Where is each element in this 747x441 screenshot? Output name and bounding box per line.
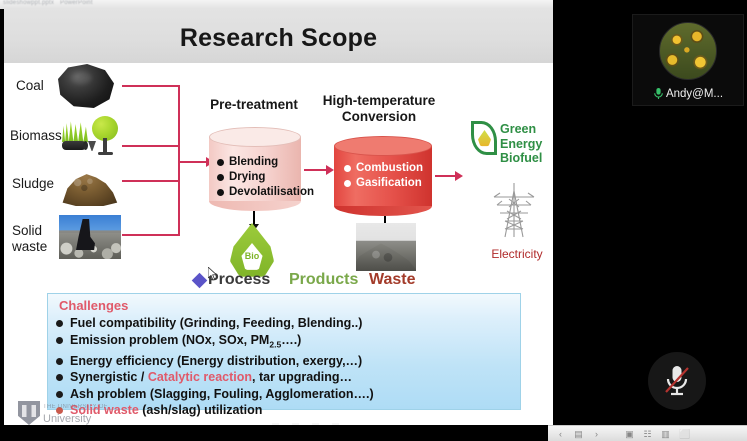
cylinder-top: [334, 136, 432, 156]
waste-mound: [356, 237, 416, 271]
list-item-label: Combustion: [356, 161, 423, 176]
university-crest-icon: [18, 401, 40, 425]
feedstock-label-solidwaste-line1: Solid: [12, 224, 42, 238]
bullet-dot-icon: [56, 374, 63, 381]
list-item: Ash problem (Slagging, Fouling, Agglomer…: [56, 386, 516, 402]
biofuel-label: Green Energy Biofuel: [500, 122, 542, 166]
challenge-text-pre: Synergistic /: [70, 370, 148, 384]
arrowhead-to-conversion: [326, 165, 334, 175]
feedstock-label-biomass: Biomass: [10, 129, 62, 143]
feedstock-label-coal: Coal: [16, 79, 44, 93]
slide-thumbnail-icon[interactable]: ▤: [574, 429, 583, 439]
connector-sludge: [122, 180, 180, 182]
challenge-text: Synergistic / Catalytic reaction, tar up…: [70, 369, 352, 385]
list-item: Drying: [217, 170, 314, 185]
solid-waste-photo: [59, 215, 121, 259]
pretreatment-item-list: Blending Drying Devolatilisation: [217, 155, 314, 200]
biomass-icon: [60, 114, 122, 162]
biofuel-label-line2: Energy: [500, 137, 542, 152]
list-item: Fuel compatibility (Grinding, Feeding, B…: [56, 315, 516, 331]
bullet-dot-icon: [56, 391, 63, 398]
list-item-label: Blending: [229, 155, 278, 170]
slide-sorter-icon[interactable]: ☷: [643, 429, 652, 439]
arrowhead-to-outputs: [455, 171, 463, 181]
video-participant-tile[interactable]: Andy@M...: [632, 14, 744, 106]
microphone-on-icon: [653, 87, 664, 100]
challenge-text-highlight: Catalytic reaction: [148, 370, 252, 384]
sludge-pile-icon: [59, 164, 119, 206]
university-watermark-line2: University: [43, 413, 91, 425]
challenges-list: Fuel compatibility (Grinding, Feeding, B…: [56, 315, 516, 419]
challenge-text-tail: ….): [281, 333, 301, 347]
normal-view-icon[interactable]: ▣: [625, 429, 634, 439]
waste-heap-photo: [356, 223, 416, 271]
process-diamond-icon: [192, 273, 208, 289]
cylinder-top: [209, 127, 301, 147]
bio-badge-label: Bio: [240, 251, 264, 261]
connector-to-pretreatment: [178, 161, 208, 163]
challenges-panel: Challenges Fuel compatibility (Grinding,…: [47, 293, 521, 410]
mute-button[interactable]: [648, 352, 706, 410]
bullet-dot-icon: [56, 320, 63, 327]
label-products: Products: [289, 271, 358, 289]
power-pylon-icon: [490, 181, 538, 239]
bullet-dot-icon: [56, 358, 63, 365]
bullet-dot-icon: [344, 180, 351, 187]
screen: slideshowppt.pptx PowerPoint Research Sc…: [0, 0, 747, 441]
page-title: Research Scope: [4, 24, 553, 53]
log-icon: [62, 141, 86, 150]
slide-pager[interactable]: [252, 423, 339, 425]
bullet-dot-icon: [217, 189, 224, 196]
biofuel-label-line1: Green: [500, 122, 542, 137]
list-item-label: Gasification: [356, 176, 422, 191]
challenges-title: Challenges: [59, 298, 128, 313]
list-item: Energy efficiency (Energy distribution, …: [56, 353, 516, 369]
bullet-dot-icon: [344, 165, 351, 172]
university-watermark: THE UNIVERSITY OF University: [18, 401, 122, 425]
feedstock-label-sludge: Sludge: [12, 177, 54, 191]
challenge-text: Ash problem (Slagging, Fouling, Agglomer…: [70, 386, 374, 402]
pager-dot-3[interactable]: [292, 423, 299, 425]
challenge-text: Emission problem (NOx, SOx, PM2.5….): [70, 332, 301, 353]
label-waste: Waste: [369, 271, 416, 289]
titlebar-app-name: PowerPoint: [60, 0, 93, 6]
challenge-text-post: , tar upgrading…: [252, 370, 352, 384]
bullet-dot-icon: [217, 174, 224, 181]
coal-lump-icon: [58, 64, 114, 108]
list-item: Blending: [217, 155, 314, 170]
list-item: Synergistic / Catalytic reaction, tar up…: [56, 369, 516, 385]
conversion-item-list: Combustion Gasification: [344, 161, 423, 191]
university-watermark-line1: THE UNIVERSITY OF: [43, 404, 108, 410]
list-item: Emission problem (NOx, SOx, PM2.5….): [56, 332, 516, 353]
list-item: Gasification: [344, 176, 423, 191]
reading-view-icon[interactable]: ▥: [661, 429, 670, 439]
powerpoint-titlebar: slideshowppt.pptx PowerPoint: [0, 0, 553, 9]
powerpoint-statusbar[interactable]: ‹ ▤ › ▣ ☷ ▥ ⬜: [548, 425, 747, 441]
previous-slide-arrow-icon[interactable]: ‹: [556, 429, 565, 439]
green-biofuel-logo-icon: [471, 121, 497, 155]
list-item-label: Devolatilisation: [229, 185, 314, 200]
feedstock-label-solidwaste-line2: waste: [12, 240, 47, 254]
list-item-label: Drying: [229, 170, 265, 185]
challenge-text-subscript: 2.5: [269, 339, 281, 349]
bullet-dot-icon: [56, 337, 63, 344]
pager-dot-5[interactable]: [332, 423, 339, 425]
electricity-label: Electricity: [482, 247, 552, 261]
avatar: [659, 22, 717, 80]
v-mark-icon: [88, 141, 96, 151]
bullet-dot-icon: [217, 159, 224, 166]
pager-dot-2[interactable]: [272, 423, 279, 425]
next-slide-arrow-icon[interactable]: ›: [592, 429, 601, 439]
slide-canvas[interactable]: Research Scope Coal Biomass Sludge Solid…: [4, 9, 553, 425]
biofuel-label-line3: Biofuel: [500, 151, 542, 166]
stage-title-pretreatment: Pre-treatment: [194, 97, 314, 113]
pager-dot-4[interactable]: [312, 423, 319, 425]
challenge-text: Energy efficiency (Energy distribution, …: [70, 353, 362, 369]
stage-title-conversion-line1: High-temperature: [314, 93, 444, 109]
pager-dot-1[interactable]: [252, 423, 259, 425]
challenge-text: Fuel compatibility (Grinding, Feeding, B…: [70, 315, 362, 331]
connector-biomass: [122, 145, 180, 147]
grass-icon: [62, 120, 88, 142]
connector-conversion-to-outputs: [435, 175, 457, 177]
participant-name: Andy@M...: [666, 88, 723, 100]
participant-footer: Andy@M...: [633, 87, 743, 100]
challenge-text-main: Emission problem (NOx, SOx, PM: [70, 333, 269, 347]
stage-title-conversion-line2: Conversion: [314, 109, 444, 125]
list-item: Combustion: [344, 161, 423, 176]
connector-coal: [122, 85, 180, 87]
list-item: Devolatilisation: [217, 185, 314, 200]
slideshow-view-icon[interactable]: ⬜: [679, 429, 690, 439]
challenge-text-post: (ash/slag) utilization: [139, 403, 263, 417]
list-item: Solid waste (ash/slag) utilization: [56, 402, 516, 418]
titlebar-filename: slideshowppt.pptx: [3, 0, 54, 6]
tree-root-icon: [98, 152, 113, 155]
connector-solidwaste: [122, 234, 180, 236]
